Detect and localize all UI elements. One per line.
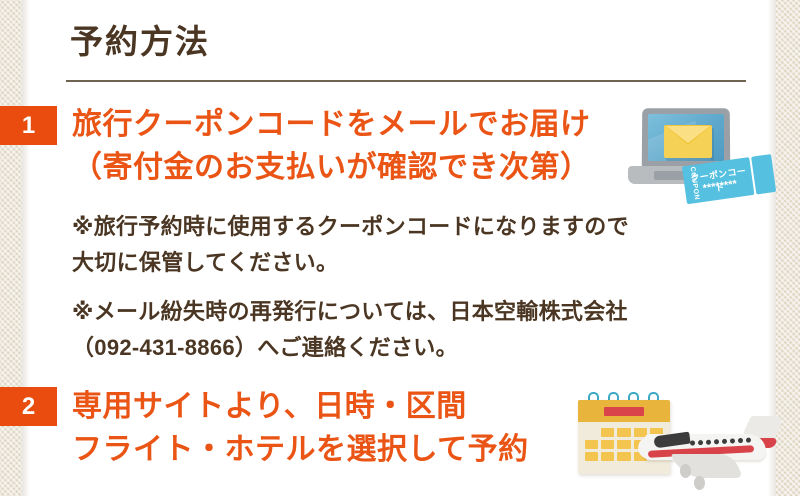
title-divider bbox=[66, 80, 746, 82]
step-badge-2-number: 2 bbox=[22, 393, 35, 421]
airplane-icon bbox=[632, 408, 778, 492]
laptop-envelope-coupon-illustration: クーポンコード ******** COUPON bbox=[624, 108, 774, 204]
step-badge-1-number: 1 bbox=[22, 112, 35, 140]
step-badge-2: 2 bbox=[0, 387, 57, 426]
step-2-heading: 専用サイトより、日時・区間 フライト・ホテルを選択して予約 bbox=[72, 386, 529, 471]
step-2-heading-line-2: フライト・ホテルを選択して予約 bbox=[72, 429, 529, 472]
step-1-note-1-line-2: 大切に保管してください。 bbox=[72, 245, 629, 281]
step-2-heading-line-1: 専用サイトより、日時・区間 bbox=[72, 386, 529, 429]
step-1-note-1: ※旅行予約時に使用するクーポンコードになりますので 大切に保管してください。 bbox=[72, 209, 629, 280]
step-1-heading-line-2: （寄付金のお支払いが確認でき次第） bbox=[72, 147, 591, 190]
calendar-airplane-illustration bbox=[566, 392, 778, 496]
step-1-note-1-line-1: ※旅行予約時に使用するクーポンコードになりますので bbox=[72, 209, 629, 245]
envelope-flap-highlight-icon bbox=[666, 126, 710, 143]
step-1-note-2: ※メール紛失時の再発行については、日本空輸株式会社 （092-431-8866）… bbox=[72, 294, 628, 365]
airplane-engine bbox=[680, 464, 691, 478]
airplane-engine bbox=[694, 476, 705, 490]
step-1-note-2-line-2: （092-431-8866）へご連絡ください。 bbox=[72, 330, 628, 366]
page-title: 予約方法 bbox=[70, 22, 210, 62]
envelope-icon bbox=[664, 125, 712, 158]
step-1-heading-line-1: 旅行クーポンコードをメールでお届け bbox=[72, 104, 591, 147]
booking-method-panel: 予約方法 1 旅行クーポンコードをメールでお届け （寄付金のお支払いが確認でき次… bbox=[0, 0, 800, 496]
step-1-note-2-line-1: ※メール紛失時の再発行については、日本空輸株式会社 bbox=[72, 294, 628, 330]
step-1-heading: 旅行クーポンコードをメールでお届け （寄付金のお支払いが確認でき次第） bbox=[72, 104, 591, 189]
step-badge-1: 1 bbox=[0, 106, 57, 145]
coupon-stub bbox=[751, 154, 776, 194]
